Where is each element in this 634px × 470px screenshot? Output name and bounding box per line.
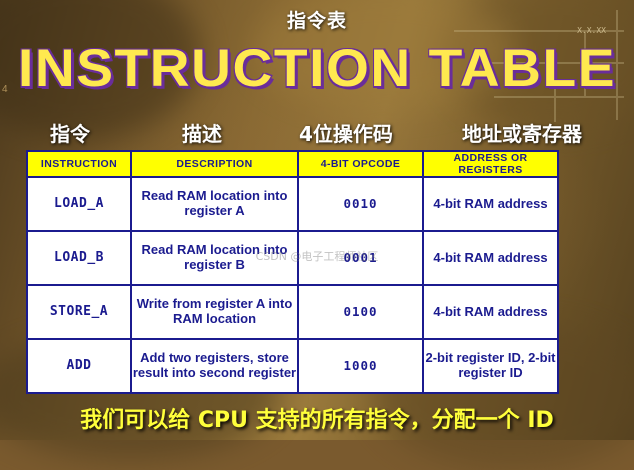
column-header-instruction: INSTRUCTION (27, 151, 131, 177)
table-row: ADD Add two registers, store result into… (27, 339, 558, 393)
table-header-row: INSTRUCTION DESCRIPTION 4-BIT OPCODE ADD… (27, 151, 558, 177)
cell-opcode: 1000 (298, 339, 423, 393)
chinese-label-opcode: 4位操作码 (299, 118, 393, 147)
table-row: LOAD_A Read RAM location into register A… (27, 177, 558, 231)
cell-instruction: LOAD_B (27, 231, 131, 285)
cell-description: Read RAM location into register A (131, 177, 298, 231)
cell-address: 4-bit RAM address (423, 285, 558, 339)
chinese-label-instruction: 指令 (50, 118, 90, 147)
column-header-description: DESCRIPTION (131, 151, 298, 177)
chinese-label-address: 地址或寄存器 (462, 118, 582, 147)
chinese-column-labels: 指令 描述 4位操作码 地址或寄存器 (0, 118, 634, 146)
page-subtitle-chinese: 指令表 (0, 6, 634, 33)
cell-instruction: LOAD_A (27, 177, 131, 231)
cell-description: Add two registers, store result into sec… (131, 339, 298, 393)
instruction-table: INSTRUCTION DESCRIPTION 4-BIT OPCODE ADD… (26, 150, 559, 394)
cell-address: 4-bit RAM address (423, 231, 558, 285)
cell-opcode: 0001 (298, 231, 423, 285)
column-header-opcode: 4-BIT OPCODE (298, 151, 423, 177)
caption-text: 我们可以给 CPU 支持的所有指令，分配一个 ID (0, 402, 634, 434)
column-header-address: ADDRESS OR REGISTERS (423, 151, 558, 177)
cell-description: Read RAM location into register B (131, 231, 298, 285)
cell-instruction: STORE_A (27, 285, 131, 339)
chinese-label-description: 描述 (182, 118, 222, 147)
table-row: STORE_A Write from register A into RAM l… (27, 285, 558, 339)
cell-instruction: ADD (27, 339, 131, 393)
cell-opcode: 0100 (298, 285, 423, 339)
cell-opcode: 0010 (298, 177, 423, 231)
cell-description: Write from register A into RAM location (131, 285, 298, 339)
cell-address: 4-bit RAM address (423, 177, 558, 231)
table-row: LOAD_B Read RAM location into register B… (27, 231, 558, 285)
cell-address: 2-bit register ID, 2-bit register ID (423, 339, 558, 393)
page-title: INSTRUCTION TABLE (0, 42, 634, 95)
